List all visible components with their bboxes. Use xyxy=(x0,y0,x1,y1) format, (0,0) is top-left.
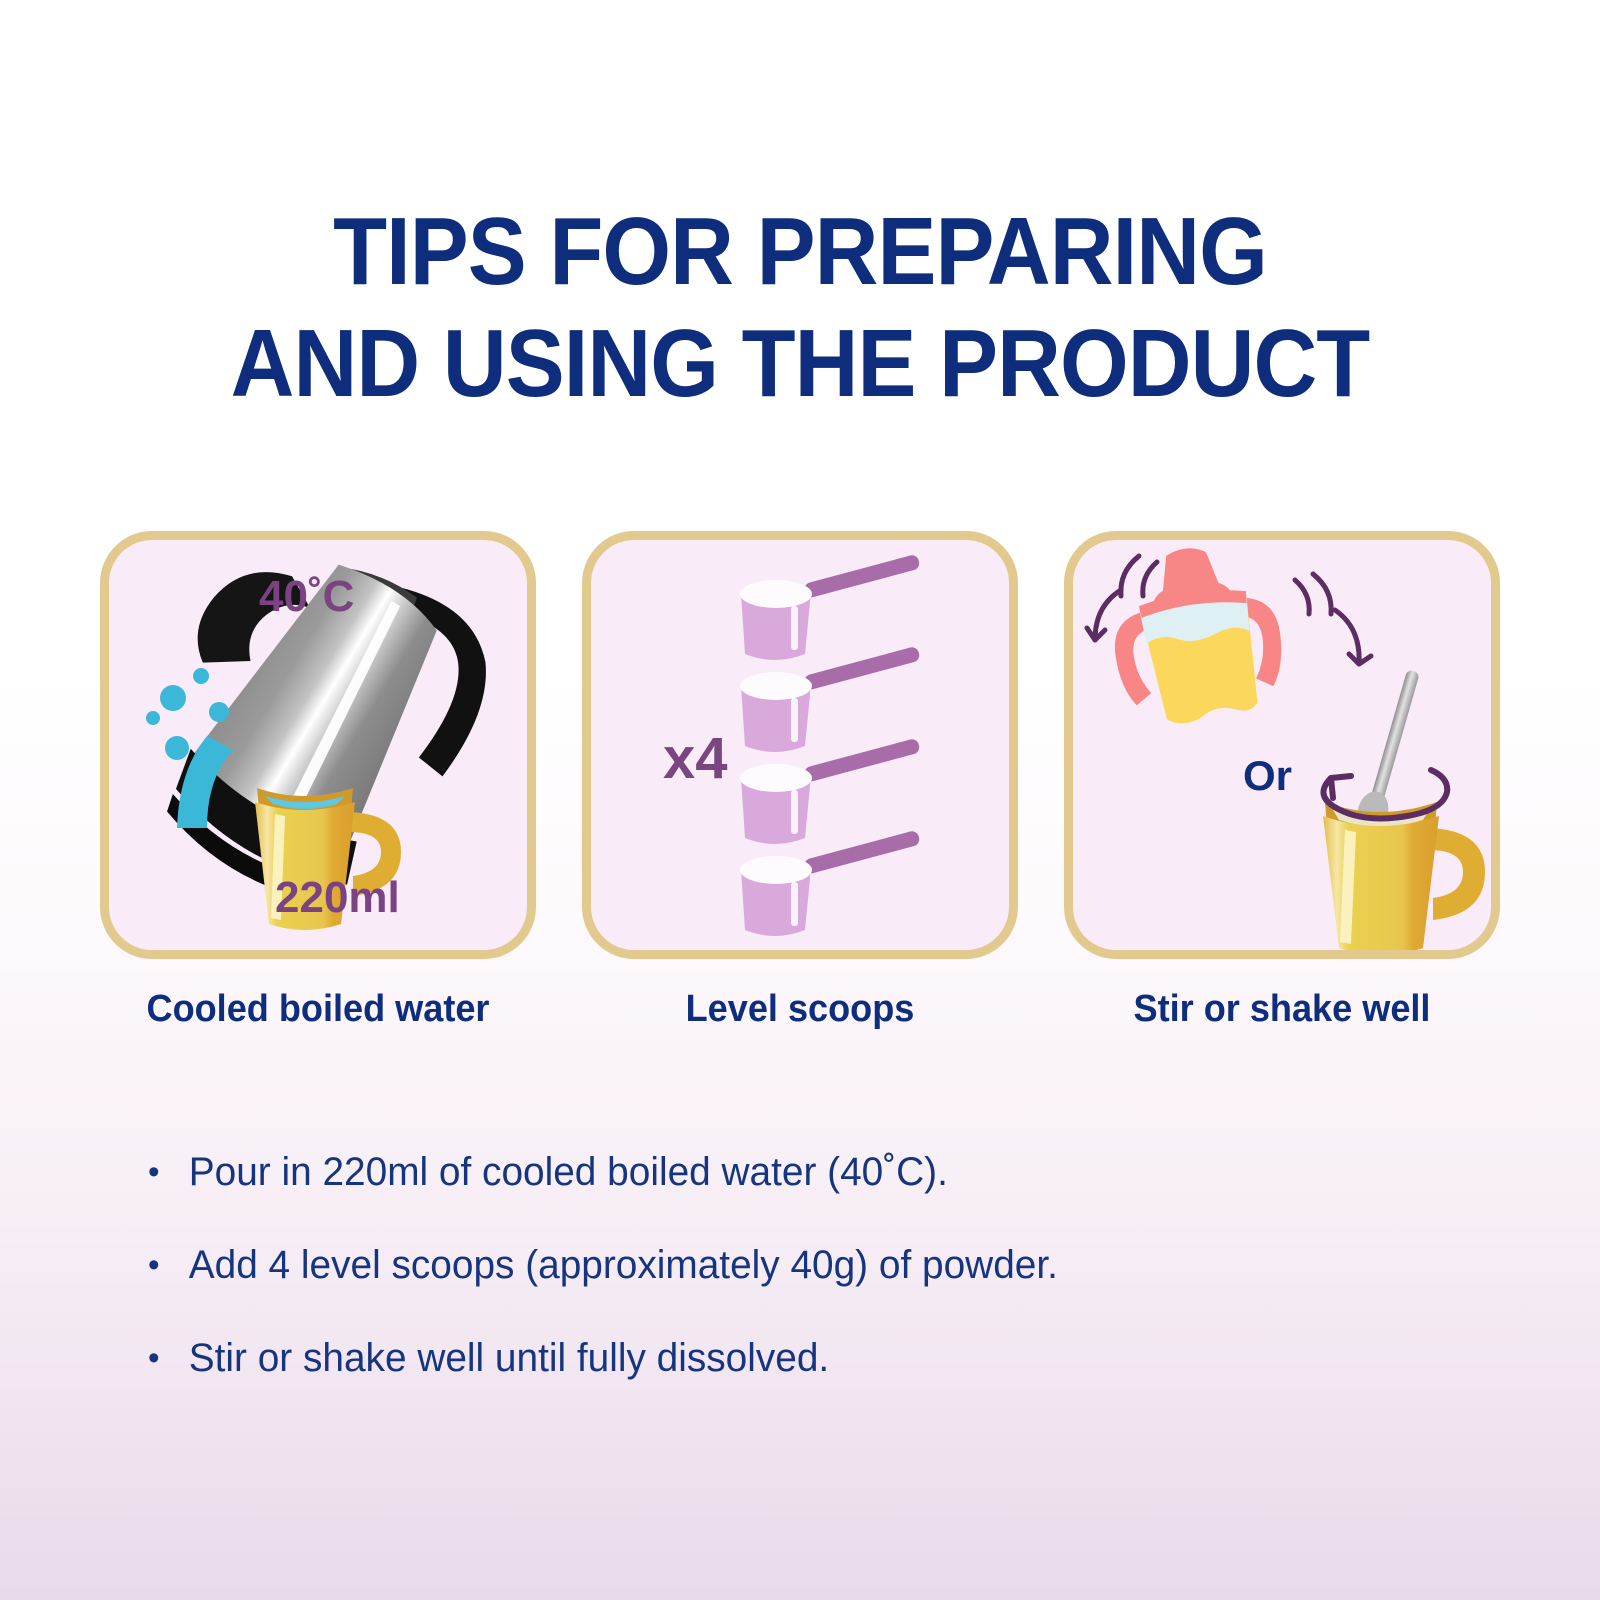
volume-label: 220ml xyxy=(275,873,400,923)
caption-stir-or-shake: Stir or shake well xyxy=(1075,988,1489,1031)
measuring-scoops-illustration xyxy=(591,540,1009,950)
or-label: Or xyxy=(1243,752,1292,800)
measuring-scoop-icon xyxy=(740,554,921,660)
temperature-label: 40˚C xyxy=(259,572,354,622)
page-title: TIPS FOR PREPARING AND USING THE PRODUCT xyxy=(0,196,1600,420)
measuring-scoop-icon xyxy=(740,646,921,752)
bullet-marker: • xyxy=(148,1336,189,1380)
card-stir-or-shake: Or xyxy=(1064,531,1500,959)
list-item: • Add 4 level scoops (approximately 40g)… xyxy=(148,1243,1409,1287)
instructions-list: • Pour in 220ml of cooled boiled water (… xyxy=(148,1150,1448,1429)
sippy-cup-icon xyxy=(1102,540,1290,732)
title-line-1: TIPS FOR PREPARING xyxy=(64,196,1536,308)
stir-or-shake-illustration xyxy=(1073,540,1491,950)
instruction-text: Stir or shake well until fully dissolved… xyxy=(189,1336,829,1380)
list-item: • Pour in 220ml of cooled boiled water (… xyxy=(148,1150,1409,1194)
instruction-text: Add 4 level scoops (approximately 40g) o… xyxy=(189,1243,1058,1287)
bullet-marker: • xyxy=(148,1243,189,1287)
card-cooled-boiled-water: 40˚C 220ml xyxy=(100,531,536,959)
card-level-scoops: x4 xyxy=(582,531,1018,959)
caption-cooled-boiled-water: Cooled boiled water xyxy=(111,988,525,1031)
instruction-text: Pour in 220ml of cooled boiled water (40… xyxy=(189,1150,948,1194)
scoop-count-label: x4 xyxy=(663,725,728,792)
measuring-scoop-icon xyxy=(740,830,921,936)
caption-level-scoops: Level scoops xyxy=(593,988,1007,1031)
card-captions-row: Cooled boiled water Level scoops Stir or… xyxy=(100,988,1500,1031)
step-cards-row: 40˚C 220ml x4 xyxy=(100,531,1500,959)
bullet-marker: • xyxy=(148,1150,189,1194)
list-item: • Stir or shake well until fully dissolv… xyxy=(148,1336,1409,1380)
measuring-scoop-icon xyxy=(740,738,921,844)
mug-with-spoon-icon xyxy=(1323,667,1485,950)
title-line-2: AND USING THE PRODUCT xyxy=(64,308,1536,420)
